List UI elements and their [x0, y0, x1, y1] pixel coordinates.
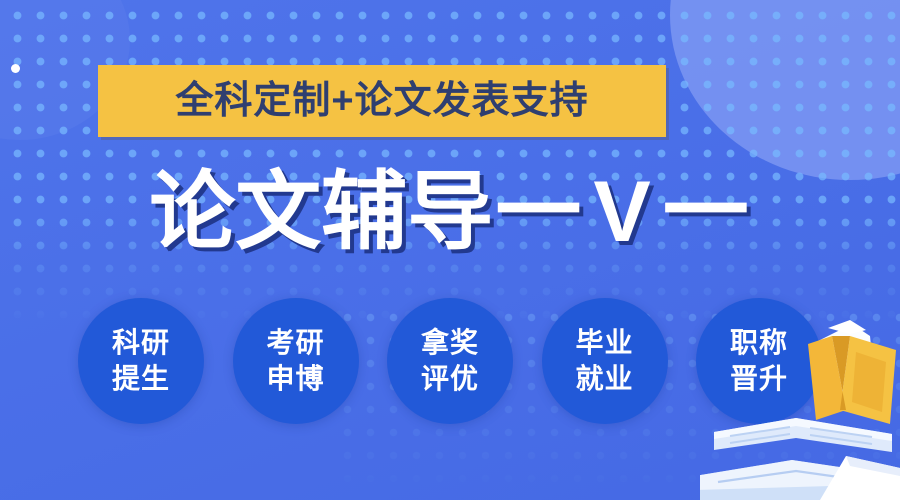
- benefit-line-1: 拿奖: [421, 325, 479, 361]
- benefit-line-1: 毕业: [575, 325, 633, 361]
- benefit-line-1: 职称: [730, 325, 788, 361]
- headline-dash-right: 一: [663, 163, 749, 262]
- benefit-circle-list: 科研 提生 考研 申博 拿奖 评优 毕业 就业 职称 晋升: [78, 298, 822, 424]
- benefit-line-1: 科研: [112, 325, 170, 361]
- sub-banner-text: 全科定制+论文发表支持: [175, 82, 588, 120]
- headline-main: 论文辅导: [149, 164, 493, 260]
- sub-banner: 全科定制+论文发表支持: [98, 65, 666, 137]
- benefit-line-2: 晋升: [730, 361, 788, 397]
- headline-v-letter: V: [593, 163, 650, 262]
- benefit-circle[interactable]: 考研 申博: [233, 298, 359, 424]
- benefit-line-1: 考研: [266, 325, 324, 361]
- benefit-circle[interactable]: 科研 提生: [78, 298, 204, 424]
- benefit-circle[interactable]: 职称 晋升: [696, 298, 822, 424]
- benefit-line-2: 评优: [421, 361, 479, 397]
- benefit-circle[interactable]: 拿奖 评优: [387, 298, 513, 424]
- headline-dash-left: 一: [495, 163, 581, 262]
- benefit-circle[interactable]: 毕业 就业: [542, 298, 668, 424]
- poster-banner: 全科定制+论文发表支持 论文辅导一V一 科研 提生 考研 申博 拿奖 评优 毕业…: [0, 0, 900, 500]
- white-dot-icon: [11, 64, 20, 73]
- benefit-line-2: 提生: [112, 361, 170, 397]
- benefit-line-2: 就业: [575, 361, 633, 397]
- benefit-line-2: 申博: [266, 361, 324, 397]
- page-title: 论文辅导一V一: [0, 163, 900, 262]
